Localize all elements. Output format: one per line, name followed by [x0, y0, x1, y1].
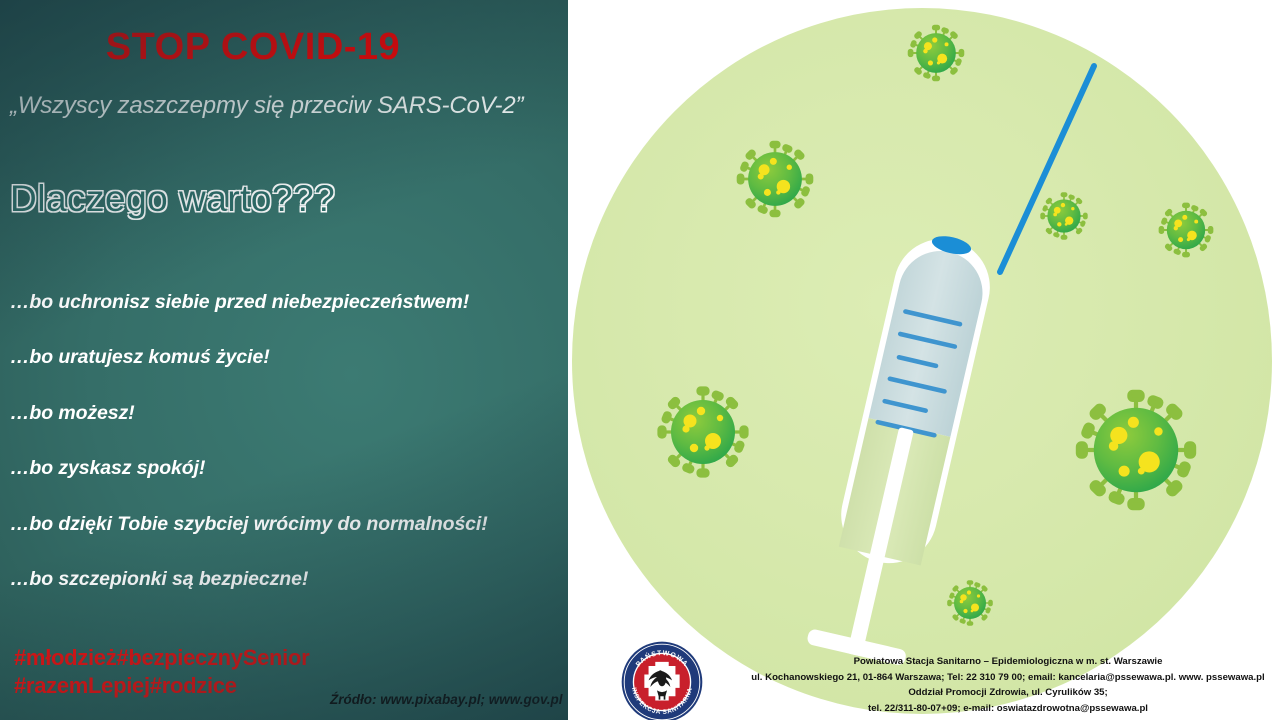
list-item: …bo zyskasz spokój! — [10, 458, 566, 478]
virus-particle-right-edge — [1156, 200, 1216, 260]
hashtag-line-1: #młodzież#bezpiecznySenior — [14, 644, 309, 672]
footer-contact-block: Powiatowa Stacja Sanitarno – Epidemiolog… — [738, 654, 1278, 716]
virus-particle-bottom — [945, 578, 995, 628]
reasons-list: …bo uchronisz siebie przed niebezpieczeń… — [10, 292, 566, 625]
sanitary-inspection-logo: PAŃSTWOWA INSPEKCJA SANITARNA — [620, 640, 704, 720]
subtitle-quote: „Wszyscy zaszczepmy się przeciw SARS-CoV… — [10, 92, 562, 120]
virus-particle-left-mid — [653, 382, 753, 482]
hashtag-block: #młodzież#bezpiecznySenior #razemLepiej#… — [14, 644, 309, 699]
hashtag-line-2: #razemLepiej#rodzice — [14, 672, 309, 700]
virus-particle-upper-left — [733, 137, 817, 221]
list-item: …bo możesz! — [10, 403, 566, 423]
list-item: …bo uchronisz siebie przed niebezpieczeń… — [10, 292, 566, 312]
footer-line-4: tel. 22/311-80-07+09; e-mail: oswiatazdr… — [738, 701, 1278, 717]
footer-line-1: Powiatowa Stacja Sanitarno – Epidemiolog… — [738, 654, 1278, 670]
virus-particle-large — [1070, 384, 1202, 516]
footer-line-2: ul. Kochanowskiego 21, 01-864 Warszawa; … — [738, 670, 1278, 686]
left-panel-content: STOP COVID-19 „Wszyscy zaszczepmy się pr… — [0, 0, 568, 720]
page-title: STOP COVID-19 — [0, 26, 568, 69]
source-credit: Źródło: www.pixabay.pl; www.gov.pl — [330, 692, 563, 707]
list-item: …bo dzięki Tobie szybciej wrócimy do nor… — [10, 514, 566, 534]
right-illustration-panel: PAŃSTWOWA INSPEKCJA SANITARNA Powiatowa … — [568, 0, 1280, 720]
list-item: …bo uratujesz komuś życie! — [10, 347, 566, 367]
virus-particle-top — [905, 22, 967, 84]
slide-canvas: STOP COVID-19 „Wszyscy zaszczepmy się pr… — [0, 0, 1280, 720]
syringe-illustration — [568, 0, 1280, 720]
left-text-panel: STOP COVID-19 „Wszyscy zaszczepmy się pr… — [0, 0, 568, 720]
footer-line-3: Oddział Promocji Zdrowia, ul. Cyrulików … — [738, 685, 1278, 701]
list-item: …bo szczepionki są bezpieczne! — [10, 569, 566, 589]
section-heading: Dlaczego warto??? — [10, 178, 335, 220]
virus-particle-small-right — [1038, 190, 1090, 242]
